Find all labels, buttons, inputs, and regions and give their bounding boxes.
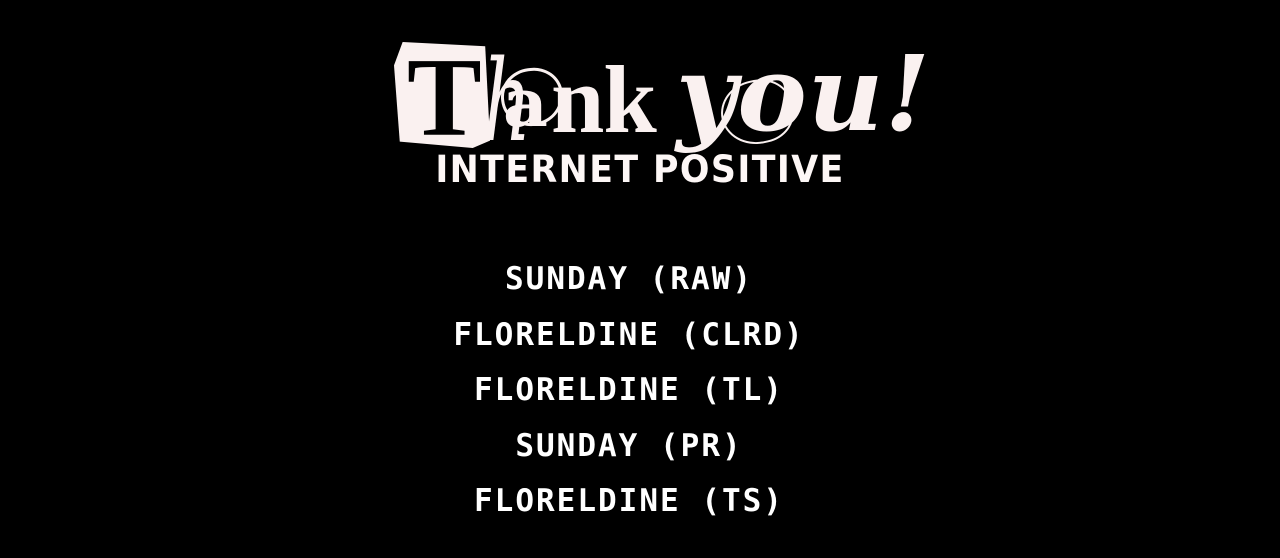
title-artwork: T h a nk you! xyxy=(0,26,1280,148)
credit-line: SUNDAY (PR) xyxy=(0,419,1280,475)
title-word-you: you! xyxy=(676,42,931,146)
title-letters-nk: nk xyxy=(551,52,656,148)
credit-line: FLORELDINE (TL) xyxy=(0,363,1280,419)
credit-line: FLORELDINE (CLRD) xyxy=(0,308,1280,364)
credit-line: FLORELDINE (TS) xyxy=(0,474,1280,530)
credit-line: SUNDAY (RAW) xyxy=(0,252,1280,308)
credits-list: SUNDAY (RAW) FLORELDINE (CLRD) FLORELDIN… xyxy=(0,252,1280,530)
subtitle-text: INTERNET POSITIVE xyxy=(38,150,1241,191)
thank-you-slide: T h a nk you! INTERNET POSITIVE SUNDAY (… xyxy=(0,0,1280,558)
title-inner: T h a nk you! xyxy=(391,26,901,148)
title-letter-t: T xyxy=(407,42,480,154)
title-letter-a: a xyxy=(503,70,548,136)
